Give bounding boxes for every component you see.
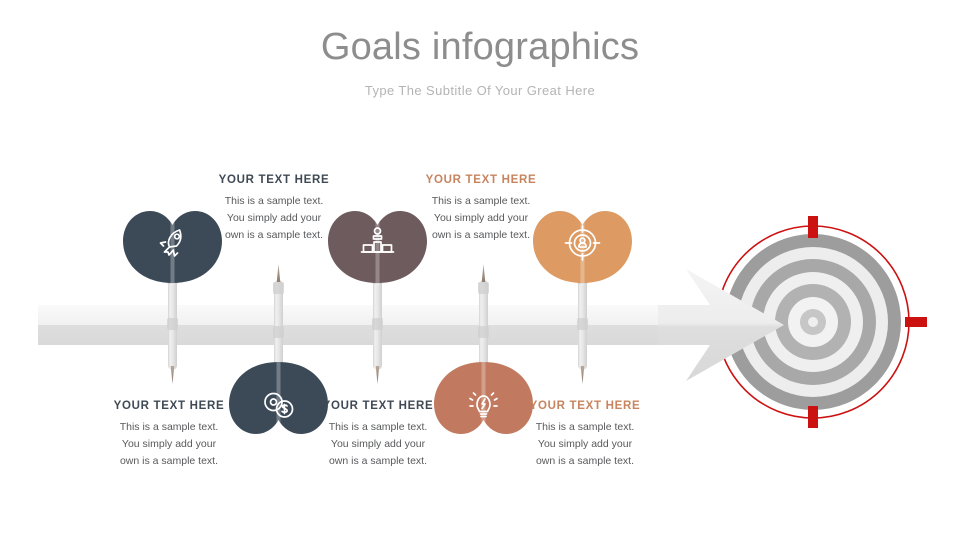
target-tick-right (905, 317, 927, 327)
target-tick-bottom (808, 406, 818, 428)
text-block-heading: YOUR TEXT HERE (505, 400, 665, 412)
body-line-3: own is a sample text. (89, 453, 249, 470)
arrow-bar (38, 269, 784, 381)
text-block-heading: YOUR TEXT HERE (89, 400, 249, 412)
text-block-heading: YOUR TEXT HERE (194, 174, 354, 186)
body-line-2: You simply add your (89, 436, 249, 453)
slide-canvas: Goals infographics Type The Subtitle Of … (0, 0, 960, 540)
body-line-1: This is a sample text. (89, 419, 249, 436)
body-line-1: This is a sample text. (194, 193, 354, 210)
text-block-body: This is a sample text. You simply add yo… (401, 193, 561, 244)
text-block-top-left: YOUR TEXT HERE This is a sample text. Yo… (194, 174, 354, 244)
body-line-2: You simply add your (505, 436, 665, 453)
text-block-bottom-left: YOUR TEXT HERE This is a sample text. Yo… (89, 400, 249, 470)
body-line-3: own is a sample text. (401, 227, 561, 244)
body-line-3: own is a sample text. (194, 227, 354, 244)
body-line-2: You simply add your (298, 436, 458, 453)
body-line-3: own is a sample text. (505, 453, 665, 470)
body-line-2: You simply add your (401, 210, 561, 227)
body-line-1: This is a sample text. (505, 419, 665, 436)
text-block-body: This is a sample text. You simply add yo… (194, 193, 354, 244)
text-block-heading: YOUR TEXT HERE (298, 400, 458, 412)
text-block-body: This is a sample text. You simply add yo… (298, 419, 458, 470)
body-line-3: own is a sample text. (298, 453, 458, 470)
text-block-bottom-right: YOUR TEXT HERE This is a sample text. Yo… (505, 400, 665, 470)
text-block-bottom-mid: YOUR TEXT HERE This is a sample text. Yo… (298, 400, 458, 470)
body-line-1: This is a sample text. (298, 419, 458, 436)
body-line-2: You simply add your (194, 210, 354, 227)
body-line-1: This is a sample text. (401, 193, 561, 210)
text-block-body: This is a sample text. You simply add yo… (505, 419, 665, 470)
target-tick-top (808, 216, 818, 238)
text-block-top-right: YOUR TEXT HERE This is a sample text. Yo… (401, 174, 561, 244)
text-block-body: This is a sample text. You simply add yo… (89, 419, 249, 470)
text-block-heading: YOUR TEXT HERE (401, 174, 561, 186)
